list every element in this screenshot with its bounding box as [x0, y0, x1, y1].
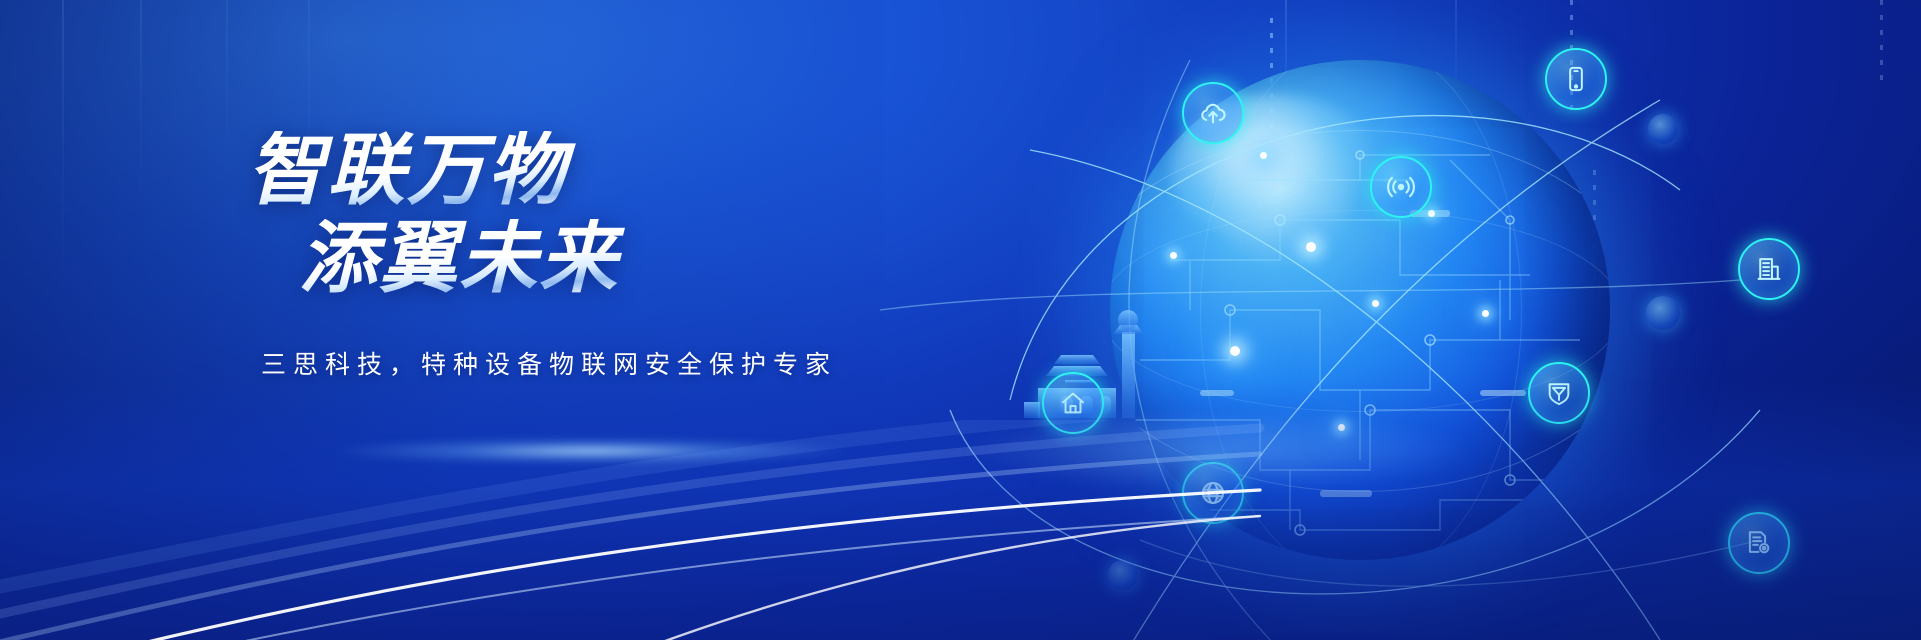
signal-wifi-icon[interactable] [1370, 156, 1432, 218]
server-building-icon[interactable] [1738, 238, 1800, 300]
headline-line-2: 添翼未来 [299, 219, 1007, 297]
horizon-glow [330, 438, 850, 464]
mobile-phone-icon[interactable] [1545, 48, 1607, 110]
water-reflection [960, 410, 1480, 490]
banner-copy: 智联万物 添翼未来 三思科技，特种设备物联网安全保护专家 [247, 131, 1007, 381]
glow-node-a [1646, 296, 1680, 330]
hero-banner: 智联万物 添翼未来 三思科技，特种设备物联网安全保护专家 [0, 0, 1921, 640]
headline-line-1: 智联万物 [247, 131, 1007, 209]
cloud-upload-icon[interactable] [1182, 82, 1244, 144]
glow-node-b [1648, 114, 1678, 144]
banner-subtitle: 三思科技，特种设备物联网安全保护专家 [261, 345, 1007, 381]
